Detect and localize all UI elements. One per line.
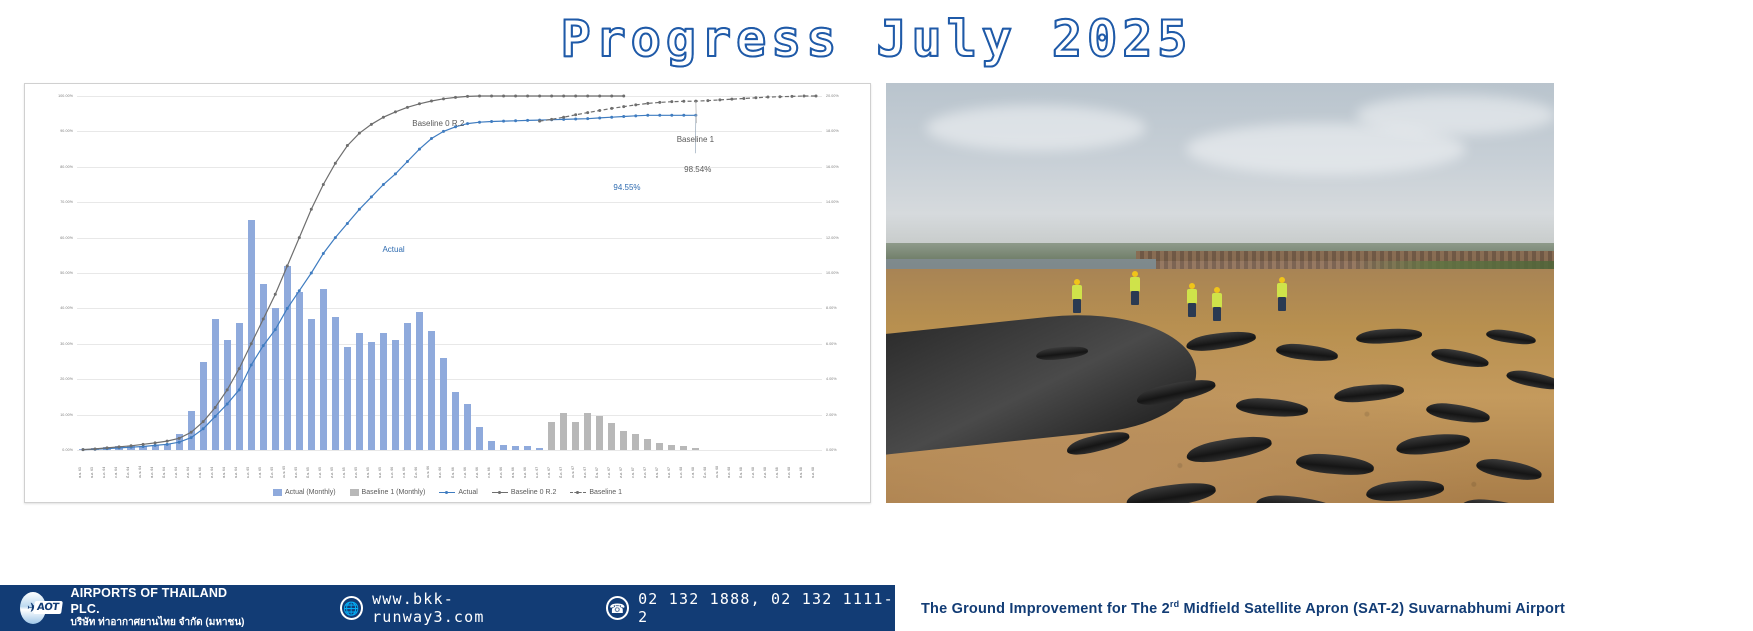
legend-label: Actual (Monthly)	[285, 489, 336, 496]
chart-line-marker	[778, 95, 781, 98]
chart-line-marker	[562, 116, 565, 119]
chart-line-marker	[610, 95, 613, 98]
legend-swatch-icon	[350, 489, 359, 496]
x-axis-tick: ก.พ. 68	[691, 467, 696, 478]
chart-line-marker	[646, 114, 649, 117]
x-axis-tick: ธ.ค. 65	[378, 467, 383, 478]
y-axis-right-tick: 10.00%	[826, 271, 839, 275]
y-axis-right-tick: 20.00%	[826, 94, 839, 98]
chart-line-marker	[634, 114, 637, 117]
x-axis-tick: ธ.ค. 63	[90, 467, 95, 478]
y-axis-right-tick: 12.00%	[826, 236, 839, 240]
x-axis-tick: ส.ค. 67	[619, 467, 624, 478]
chart-line-marker	[430, 99, 433, 102]
chart-line-marker	[478, 121, 481, 124]
x-axis-tick: ก.พ. 64	[114, 467, 119, 478]
chart-line-marker	[310, 208, 313, 211]
chart-line-marker	[142, 443, 145, 446]
chart-line-marker	[598, 95, 601, 98]
chart-line-marker	[586, 111, 589, 114]
chart-line-marker	[190, 431, 193, 434]
chart-line-marker	[718, 98, 721, 101]
project-title-pre: The Ground Improvement for The 2	[921, 601, 1170, 617]
footer-phone[interactable]: ☎ 02 132 1888, 02 132 1111-2	[606, 590, 895, 626]
y-axis-right-tick: 16.00%	[826, 165, 839, 169]
x-axis-tick: พ.ย. 66	[511, 467, 516, 478]
x-axis-tick: ธ.ค. 68	[811, 467, 816, 478]
legend-item[interactable]: Actual	[439, 489, 477, 496]
y-axis-right-tick: 18.00%	[826, 129, 839, 133]
x-axis-tick: มิ.ย. 67	[595, 467, 600, 478]
aot-logo-text: AOT	[33, 601, 62, 614]
chart-line-marker	[346, 144, 349, 147]
aot-logo: ✈ AOT AIRPORTS OF THAILAND PLC. บริษัท ท…	[18, 586, 254, 630]
chart-line-marker	[586, 117, 589, 120]
chart-line-marker	[118, 445, 121, 448]
chart-line-marker	[442, 97, 445, 100]
y-axis-right-tick: 4.00%	[826, 377, 837, 381]
x-axis-tick: เม.ย. 65	[282, 466, 287, 478]
x-axis-tick: ก.ค. 64	[174, 467, 179, 478]
chart-line-marker	[634, 103, 637, 106]
chart-line-marker	[394, 110, 397, 113]
chart-line-marker	[322, 183, 325, 186]
chart-line-marker	[466, 95, 469, 98]
y-axis-right-tick: 14.00%	[826, 200, 839, 204]
x-axis-tick: มี.ค. 65	[270, 467, 275, 478]
chart-line-marker	[478, 95, 481, 98]
chart-line-marker	[406, 106, 409, 109]
x-axis-tick: ก.พ. 67	[547, 467, 552, 478]
x-axis-tick: ก.ย. 67	[631, 467, 636, 478]
photo-worker	[1276, 277, 1290, 317]
progress-chart-panel: 0.00%10.00%20.00%30.00%40.00%50.00%60.00…	[24, 83, 871, 503]
project-title-ordinal: rd	[1170, 599, 1179, 609]
chart-line-marker	[298, 289, 301, 292]
chart-line-marker	[226, 402, 229, 405]
x-axis-tick: พ.ค. 64	[150, 467, 155, 478]
footer-brand-bar: ✈ AOT AIRPORTS OF THAILAND PLC. บริษัท ท…	[0, 585, 895, 631]
x-axis-tick: ต.ค. 68	[787, 467, 792, 478]
photo-worker-legs	[1188, 303, 1196, 317]
chart-line-marker	[670, 114, 673, 117]
chart-line-marker	[814, 95, 817, 98]
chart-line-marker	[502, 120, 505, 123]
chart-line-marker	[574, 113, 577, 116]
legend-label: Actual	[458, 489, 477, 496]
x-axis-tick: เม.ย. 68	[715, 466, 720, 478]
x-axis-tick: ม.ค. 64	[102, 467, 107, 478]
chart-line-marker	[466, 122, 469, 125]
x-axis-tick: ส.ค. 65	[330, 467, 335, 478]
y-axis-left-tick: 10.00%	[29, 413, 73, 417]
y-axis-left-tick: 60.00%	[29, 236, 73, 240]
chart-line-marker	[442, 130, 445, 133]
chart-line-marker	[178, 441, 181, 444]
chart-line-marker	[274, 328, 277, 331]
photo-worker-vest	[1277, 283, 1287, 298]
footer-website-text: www.bkk-runway3.com	[372, 590, 560, 626]
aot-logo-mark: ✈ AOT	[18, 592, 61, 624]
chart-line-marker	[802, 95, 805, 98]
chart-line-marker	[598, 109, 601, 112]
photo-worker-legs	[1131, 291, 1139, 305]
footer-project-bar: The Ground Improvement for The 2rd Midfi…	[895, 585, 1753, 631]
site-photo	[886, 83, 1554, 503]
chart-line-marker	[502, 95, 505, 98]
chart-line-marker	[166, 440, 169, 443]
chart-line-marker	[214, 406, 217, 409]
chart-line-marker	[166, 443, 169, 446]
chart-line-marker	[574, 95, 577, 98]
chart-line-marker	[274, 293, 277, 296]
x-axis-tick: เม.ย. 66	[426, 466, 431, 478]
chart-line-marker	[238, 388, 241, 391]
chart-line-marker	[682, 100, 685, 103]
chart-line-marker	[658, 114, 661, 117]
chart-line-marker	[226, 388, 229, 391]
legend-item[interactable]: Baseline 0 R.2	[492, 489, 557, 496]
y-axis-left-tick: 50.00%	[29, 271, 73, 275]
annotation-leader-line	[696, 101, 697, 123]
chart-line-marker	[622, 115, 625, 118]
chart-line-marker	[610, 116, 613, 119]
chart-line-marker	[430, 137, 433, 140]
y-axis-left-tick: 90.00%	[29, 129, 73, 133]
chart-line-marker	[154, 441, 157, 444]
chart-line-marker	[178, 437, 181, 440]
chart-line-marker	[514, 119, 517, 122]
chart-line-marker	[574, 118, 577, 121]
x-axis-tick: ม.ค. 68	[679, 467, 684, 478]
chart-line-marker	[382, 183, 385, 186]
x-axis-tick: พ.ย. 63	[78, 467, 83, 478]
legend-label: Baseline 1	[589, 489, 622, 496]
y-axis-left-tick: 40.00%	[29, 306, 73, 310]
x-axis-tick: เม.ย. 67	[571, 466, 576, 478]
y-axis-right-tick: 8.00%	[826, 306, 837, 310]
chart-line-marker	[790, 95, 793, 98]
page-title: Progress July 2025	[561, 10, 1193, 68]
x-axis-tick: ธ.ค. 66	[523, 467, 528, 478]
legend-swatch-icon	[439, 489, 455, 496]
x-axis-tick: ม.ค. 67	[535, 467, 540, 478]
chart-line-marker	[394, 172, 397, 175]
chart-line-marker	[358, 132, 361, 135]
photo-worker	[1211, 287, 1225, 327]
chart-line-marker	[598, 116, 601, 119]
x-axis-tick: ก.ค. 66	[463, 467, 468, 478]
chart-line-marker	[670, 100, 673, 103]
chart-line-marker	[538, 120, 541, 123]
chart-line-marker	[622, 95, 625, 98]
legend-swatch-icon	[273, 489, 282, 496]
chart-line-marker	[610, 107, 613, 110]
y-axis-left-tick: 30.00%	[29, 342, 73, 346]
footer-website[interactable]: 🌐 www.bkk-runway3.com	[340, 590, 560, 626]
x-axis-tick: ธ.ค. 64	[234, 467, 239, 478]
chart-legend: Actual (Monthly)Baseline 1 (Monthly)Actu…	[25, 489, 870, 496]
y-axis-right-tick: 6.00%	[826, 342, 837, 346]
x-axis-tick: ต.ค. 65	[354, 467, 359, 478]
chart-line-marker	[526, 95, 529, 98]
x-axis-tick: ส.ค. 68	[763, 467, 768, 478]
chart-line-marker	[382, 116, 385, 119]
chart-line-marker	[646, 102, 649, 105]
x-axis-tick: พ.ย. 67	[655, 467, 660, 478]
chart-line-marker	[346, 222, 349, 225]
x-axis-tick: ส.ค. 66	[475, 467, 480, 478]
x-axis-tick: มิ.ย. 68	[739, 467, 744, 478]
annotation-baseline-0: Baseline 0 R.2	[412, 119, 464, 128]
content-area: 0.00%10.00%20.00%30.00%40.00%50.00%60.00…	[0, 78, 1753, 508]
legend-item[interactable]: Baseline 1	[570, 489, 622, 496]
y-axis-right-tick: 0.00%	[826, 448, 837, 452]
x-axis-tick: พ.ค. 68	[727, 467, 732, 478]
x-axis-tick: ก.ย. 66	[487, 467, 492, 478]
chart-line-marker	[370, 123, 373, 126]
photo-cloud	[1356, 95, 1554, 135]
chart-line-marker	[622, 105, 625, 108]
chart-line-marker	[550, 118, 553, 121]
chart-line-marker	[562, 95, 565, 98]
legend-label: Baseline 0 R.2	[511, 489, 557, 496]
photo-worker-vest	[1130, 277, 1140, 292]
chart-line-marker	[214, 415, 217, 418]
y-axis-right-tick: 2.00%	[826, 413, 837, 417]
chart-line-marker	[202, 420, 205, 423]
chart-line-marker	[202, 427, 205, 430]
chart-line-marker	[550, 95, 553, 98]
x-axis-tick: มี.ค. 66	[414, 467, 419, 478]
photo-worker	[1071, 279, 1085, 319]
chart-line-marker	[322, 252, 325, 255]
x-axis-tick: มี.ค. 68	[703, 467, 708, 478]
x-axis-tick: ก.ย. 65	[342, 467, 347, 478]
x-axis-tick: พ.ย. 65	[366, 467, 371, 478]
site-photo-panel	[886, 83, 1554, 503]
y-axis-left-tick: 20.00%	[29, 377, 73, 381]
footer-bar: ✈ AOT AIRPORTS OF THAILAND PLC. บริษัท ท…	[0, 585, 1753, 631]
chart-line-marker	[334, 162, 337, 165]
photo-worker-vest	[1072, 285, 1082, 300]
chart-line-marker	[730, 98, 733, 101]
chart-line-marker	[262, 344, 265, 347]
annotation-baseline-1: Baseline 1	[677, 135, 714, 144]
annotation-actual-value: 94.55%	[613, 183, 640, 192]
legend-item[interactable]: Baseline 1 (Monthly)	[350, 489, 426, 496]
chart-line-marker	[298, 236, 301, 239]
annotation-actual: Actual	[382, 245, 404, 254]
chart-line-marker	[310, 272, 313, 275]
chart-line-marker	[490, 95, 493, 98]
x-axis-tick: พ.ค. 67	[583, 467, 588, 478]
photo-worker-legs	[1073, 299, 1081, 313]
x-axis-tick: ธ.ค. 67	[667, 467, 672, 478]
legend-label: Baseline 1 (Monthly)	[362, 489, 426, 496]
x-axis-tick: ก.ย. 68	[775, 467, 780, 478]
chart-line-marker	[706, 99, 709, 102]
x-axis-tick: มิ.ย. 64	[162, 467, 167, 478]
chart-line-marker	[250, 364, 253, 367]
phone-icon: ☎	[606, 596, 629, 620]
photo-worker-legs	[1213, 307, 1221, 321]
photo-worker-legs	[1278, 297, 1286, 311]
chart-line-marker	[190, 436, 193, 439]
chart-line-marker	[106, 446, 109, 449]
chart-plot-area: Baseline 0 R.2 Baseline 1 Actual 98.54% …	[77, 96, 822, 450]
chart-line-marker	[418, 102, 421, 105]
y-axis-left-tick: 0.00%	[29, 448, 73, 452]
chart-line-marker	[658, 101, 661, 104]
chart-line-marker	[250, 342, 253, 345]
x-axis-tick: เม.ย. 64	[138, 466, 143, 478]
x-axis-tick: ส.ค. 64	[186, 467, 191, 478]
x-axis-tick: ต.ค. 64	[210, 467, 215, 478]
globe-icon: 🌐	[340, 596, 363, 620]
legend-item[interactable]: Actual (Monthly)	[273, 489, 336, 496]
chart-line-marker	[406, 160, 409, 163]
photo-worker	[1186, 283, 1200, 323]
aot-name-en: AIRPORTS OF THAILAND PLC.	[71, 586, 254, 617]
chart-line-marker	[514, 95, 517, 98]
chart-line-marker	[754, 96, 757, 99]
x-axis-tick: พ.ค. 66	[438, 467, 443, 478]
chart-line-marker	[418, 148, 421, 151]
chart-line-marker	[538, 95, 541, 98]
chart-line-marker	[130, 444, 133, 447]
chart-line-marker	[586, 95, 589, 98]
photo-worker-vest	[1212, 293, 1222, 308]
x-axis-tick: ก.ย. 64	[198, 467, 203, 478]
title-area: Progress July 2025	[0, 0, 1753, 78]
photo-cloud	[926, 105, 1146, 151]
x-axis-tick: ก.พ. 65	[258, 467, 263, 478]
x-axis-tick: มี.ค. 64	[126, 467, 131, 478]
x-axis-tick: พ.ค. 65	[294, 467, 299, 478]
x-axis-tick: ก.ค. 65	[318, 467, 323, 478]
aot-name-th: บริษัท ท่าอากาศยานไทย จำกัด (มหาชน)	[71, 617, 254, 630]
y-axis-left-tick: 100.00%	[29, 94, 73, 98]
plot-wrapper: 0.00%10.00%20.00%30.00%40.00%50.00%60.00…	[25, 84, 870, 502]
x-axis-tick: มี.ค. 67	[559, 467, 564, 478]
project-title: The Ground Improvement for The 2rd Midfi…	[921, 599, 1565, 617]
x-axis-tick: ต.ค. 67	[643, 467, 648, 478]
chart-line-marker	[766, 96, 769, 99]
x-axis-tick: ม.ค. 65	[246, 467, 251, 478]
x-axis-tick: มิ.ย. 65	[306, 467, 311, 478]
chart-line-marker	[370, 195, 373, 198]
chart-line-marker	[454, 96, 457, 99]
x-axis-tick: ก.ค. 68	[751, 467, 756, 478]
x-axis-tick: ก.ค. 67	[607, 467, 612, 478]
chart-line-marker	[334, 236, 337, 239]
legend-swatch-icon	[570, 489, 586, 496]
x-axis-tick: ต.ค. 66	[499, 467, 504, 478]
x-axis-tick: ก.พ. 66	[402, 467, 407, 478]
legend-swatch-icon	[492, 489, 508, 496]
y-axis-left-tick: 70.00%	[29, 200, 73, 204]
x-axis-tick: มิ.ย. 66	[451, 467, 456, 478]
photo-worker-vest	[1187, 289, 1197, 304]
project-title-post: Midfield Satellite Apron (SAT-2) Suvarna…	[1179, 601, 1565, 617]
x-axis-tick: ม.ค. 66	[390, 467, 395, 478]
chart-line-marker	[262, 318, 265, 321]
footer-phone-text: 02 132 1888, 02 132 1111-2	[638, 590, 895, 626]
photo-worker	[1129, 271, 1143, 311]
chart-line-marker	[526, 119, 529, 122]
chart-line-marker	[286, 307, 289, 310]
chart-line-marker	[742, 97, 745, 100]
chart-line-marker	[286, 264, 289, 267]
chart-line-markers	[77, 96, 822, 450]
aot-org-names: AIRPORTS OF THAILAND PLC. บริษัท ท่าอากา…	[71, 586, 254, 630]
chart-line-marker	[358, 208, 361, 211]
x-axis-labels: พ.ย. 63ธ.ค. 63ม.ค. 64ก.พ. 64มี.ค. 64เม.ย…	[77, 450, 822, 476]
chart-line-marker	[490, 120, 493, 123]
chart-line-marker	[682, 114, 685, 117]
x-axis-tick: พ.ย. 68	[799, 467, 804, 478]
y-axis-left-tick: 80.00%	[29, 165, 73, 169]
annotation-baseline1-value: 98.54%	[684, 165, 711, 174]
chart-line-marker	[238, 367, 241, 370]
x-axis-tick: พ.ย. 64	[222, 467, 227, 478]
